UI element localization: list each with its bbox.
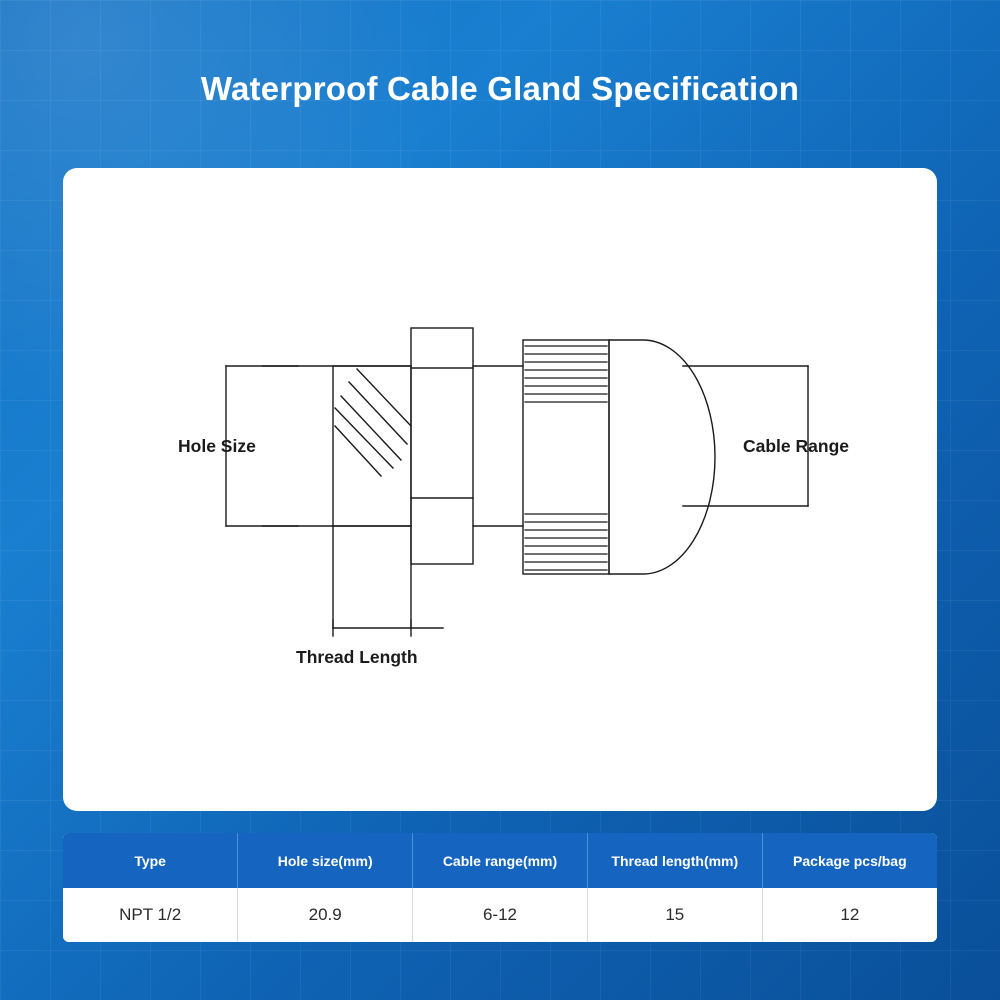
cell-hole-size: 20.9 [238, 888, 413, 942]
column-header-type: Type [63, 833, 238, 888]
cell-package: 12 [762, 888, 937, 942]
domed-seal-cap [609, 340, 715, 574]
specification-table: Type Hole size(mm) Cable range(mm) Threa… [63, 833, 937, 942]
thread-line-4 [357, 369, 411, 426]
cap-nut-knurling [525, 346, 607, 570]
cable-gland-technical-drawing [63, 168, 937, 811]
cell-cable-range: 6-12 [413, 888, 588, 942]
hex-flange [411, 328, 473, 564]
cell-type: NPT 1/2 [63, 888, 238, 942]
table-row: NPT 1/2 20.9 6-12 15 12 [63, 888, 937, 942]
page-title: Waterproof Cable Gland Specification [0, 70, 1000, 108]
table-body: NPT 1/2 20.9 6-12 15 12 [63, 888, 937, 942]
cap-nut-body [523, 340, 609, 574]
column-header-cable-range: Cable range(mm) [413, 833, 588, 888]
table-header: Type Hole size(mm) Cable range(mm) Threa… [63, 833, 937, 888]
hole-size-label: Hole Size [178, 436, 256, 457]
cell-thread-length: 15 [587, 888, 762, 942]
page-root: Waterproof Cable Gland Specification [0, 0, 1000, 1000]
diagram-card: Hole Size Cable Range Thread Length [63, 168, 937, 811]
cable-range-label: Cable Range [743, 436, 849, 457]
thread-line-5 [335, 426, 381, 476]
thread-length-label: Thread Length [296, 647, 418, 668]
column-header-thread-length: Thread length(mm) [587, 833, 762, 888]
table-header-row: Type Hole size(mm) Cable range(mm) Threa… [63, 833, 937, 888]
thread-line-1 [335, 408, 393, 468]
column-header-package: Package pcs/bag [762, 833, 937, 888]
column-header-hole-size: Hole size(mm) [238, 833, 413, 888]
